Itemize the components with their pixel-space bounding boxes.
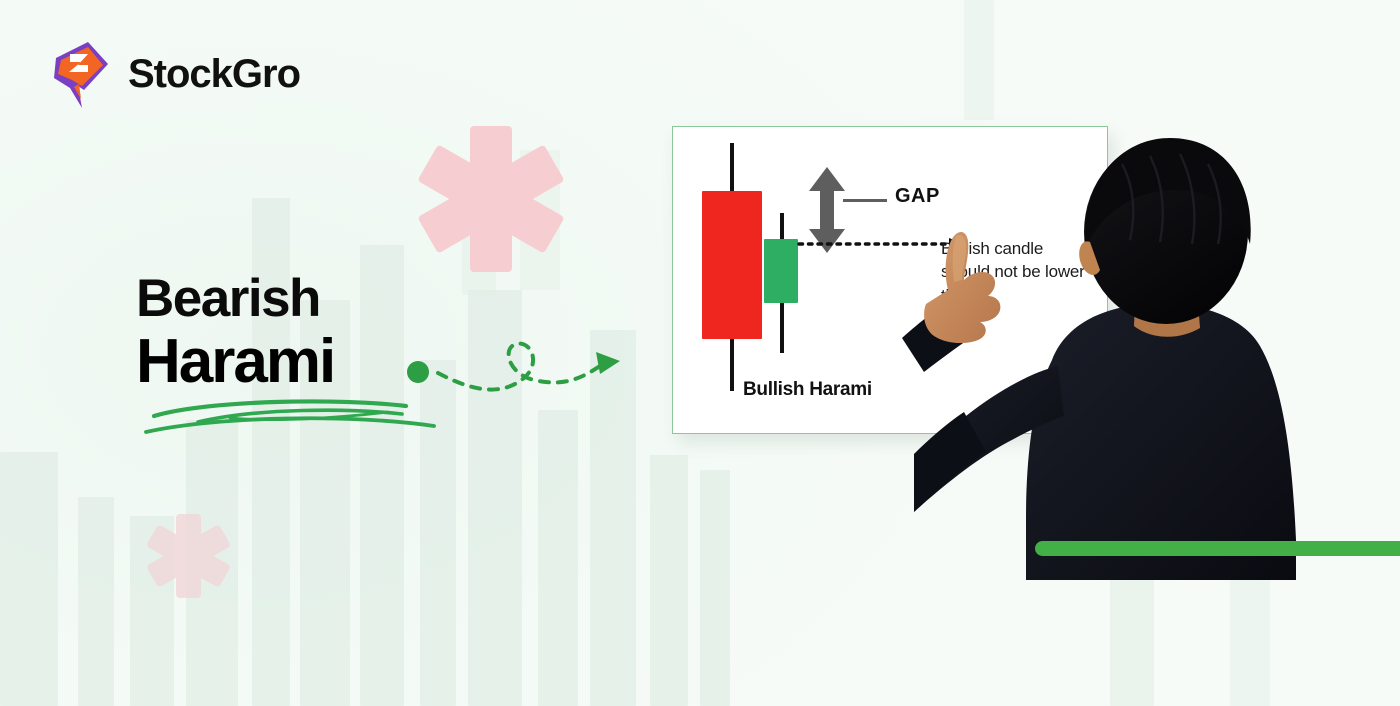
green-floor-bar [1035, 541, 1400, 556]
bearish-candle-body [702, 191, 762, 339]
pink-asterisk-icon [418, 126, 564, 272]
brand-logo[interactable]: StockGro [48, 38, 300, 110]
brand-name: StockGro [128, 54, 300, 94]
pink-asterisk-small-icon [146, 514, 230, 598]
presenter-pointing-at-whiteboard [930, 120, 1400, 580]
stockgro-bolt-badge-icon [48, 38, 114, 110]
leader-line-icon [843, 199, 887, 202]
title-line-1: Bearish [136, 272, 334, 325]
green-scribble-underline-icon [138, 392, 448, 438]
title-line-2: Harami [136, 329, 334, 394]
poster-canvas: StockGro Bearish Harami [0, 0, 1400, 706]
green-dot-icon [407, 361, 429, 383]
whiteboard-caption: Bullish Harami [743, 379, 872, 401]
bullish-candle-body [764, 239, 798, 303]
dashed-loop-arrow-icon [404, 330, 634, 400]
page-title: Bearish Harami [136, 272, 334, 394]
